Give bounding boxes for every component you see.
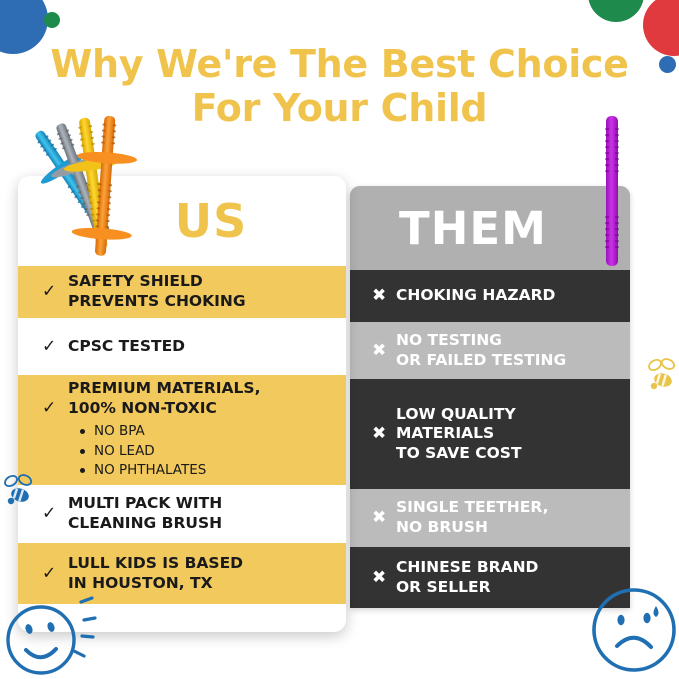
us-row-label: LULL KIDS IS BASEDIN HOUSTON, TX (68, 554, 338, 593)
infographic-canvas: Why We're The Best Choice For Your Child… (0, 0, 679, 679)
bee-doodle-right (646, 352, 678, 396)
decor-blob-green-top-right (588, 0, 644, 22)
sad-face-doodle (586, 578, 679, 679)
our-teethers-image (2, 112, 174, 274)
them-row: ✖ SINGLE TEETHER,NO BRUSH (350, 489, 630, 547)
decor-dot-green-top-left (44, 12, 60, 28)
them-row: ✖ NO TESTINGOR FAILED TESTING (350, 322, 630, 379)
them-header-label: THEM (399, 202, 581, 255)
cross-icon: ✖ (372, 426, 386, 443)
us-row: ✓ MULTI PACK WITHCLEANING BRUSH (18, 485, 346, 543)
cross-icon: ✖ (372, 342, 386, 359)
them-row: ✖ CHOKING HAZARD (350, 270, 630, 322)
us-row-label: SAFETY SHIELDPREVENTS CHOKING (68, 272, 338, 311)
us-row: ✓ CPSC TESTED (18, 318, 346, 375)
check-icon: ✓ (42, 400, 56, 417)
check-icon: ✓ (42, 338, 56, 355)
them-row-label: LOW QUALITYMATERIALSTO SAVE COST (396, 405, 522, 464)
us-row-label: PREMIUM MATERIALS,100% NON-TOXIC (68, 379, 338, 418)
them-header: THEM (350, 186, 630, 270)
happy-face-doodle (2, 596, 98, 679)
competitor-teether-image (604, 116, 620, 266)
us-row-label: CPSC TESTED (68, 337, 338, 357)
cross-icon: ✖ (372, 288, 386, 305)
us-sub-item: NO BPA (78, 422, 338, 442)
us-row-label: MULTI PACK WITHCLEANING BRUSH (68, 494, 338, 533)
them-row-label: SINGLE TEETHER,NO BRUSH (396, 498, 548, 537)
us-row: ✓ LULL KIDS IS BASEDIN HOUSTON, TX (18, 543, 346, 604)
check-icon: ✓ (42, 506, 56, 523)
them-column: THEM ✖ CHOKING HAZARD ✖ NO TESTINGOR FAI… (350, 186, 630, 608)
title-line-1: Why We're The Best Choice (50, 42, 628, 86)
bee-doodle-left (2, 468, 36, 510)
check-icon: ✓ (42, 284, 56, 301)
us-row: ✓ PREMIUM MATERIALS,100% NON-TOXIC NO BP… (18, 375, 346, 485)
cross-icon: ✖ (372, 569, 386, 586)
us-row-sublist: NO BPA NO LEAD NO PHTHALATES (78, 422, 338, 481)
us-sub-item: NO PHTHALATES (78, 461, 338, 481)
cross-icon: ✖ (372, 510, 386, 527)
them-row-label: CHINESE BRANDOR SELLER (396, 558, 538, 597)
us-sub-item: NO LEAD (78, 442, 338, 462)
check-icon: ✓ (42, 565, 56, 582)
them-row: ✖ LOW QUALITYMATERIALSTO SAVE COST (350, 379, 630, 489)
them-row-label: CHOKING HAZARD (396, 286, 555, 306)
them-row-label: NO TESTINGOR FAILED TESTING (396, 331, 566, 370)
